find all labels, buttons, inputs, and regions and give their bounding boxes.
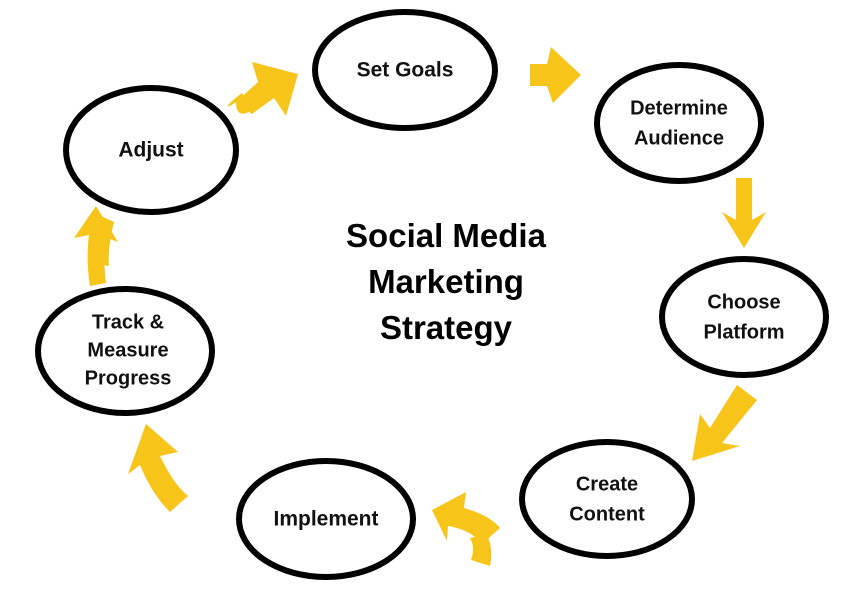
center-title-line3: Strategy [380,309,513,346]
node-create-content-label-line1: Create [576,473,638,495]
node-layer: Set Goals Determine Audience Choose Plat… [0,0,856,596]
node-create-content-ellipse[interactable] [522,442,692,556]
node-track-measure-progress-label-line3: Progress [85,367,172,389]
node-track-measure-progress-label-line1: Track & [92,311,164,333]
node-create-content-label-line2: Content [569,503,645,525]
node-implement-label: Implement [273,508,378,531]
center-title: Social Media Marketing Strategy [346,217,547,346]
node-determine-audience[interactable]: Determine Audience [597,65,761,181]
node-create-content[interactable]: Create Content [522,442,692,556]
node-track-measure-progress[interactable]: Track & Measure Progress [38,289,212,413]
node-track-measure-progress-label-line2: Measure [87,339,168,361]
node-implement[interactable]: Implement [239,461,413,577]
node-set-goals[interactable]: Set Goals [315,12,495,128]
node-set-goals-label: Set Goals [357,59,454,82]
node-determine-audience-ellipse[interactable] [597,65,761,181]
node-choose-platform-label-line1: Choose [707,291,780,313]
node-determine-audience-label-line2: Audience [634,127,724,149]
center-title-line2: Marketing [368,263,524,300]
diagram-canvas: Set Goals Determine Audience Choose Plat… [0,0,856,596]
node-choose-platform-ellipse[interactable] [662,259,826,375]
node-adjust[interactable]: Adjust [66,88,236,212]
node-choose-platform-label-line2: Platform [703,321,784,343]
node-determine-audience-label-line1: Determine [630,97,728,119]
center-title-line1: Social Media [346,217,547,254]
node-adjust-label: Adjust [118,139,183,162]
node-choose-platform[interactable]: Choose Platform [662,259,826,375]
